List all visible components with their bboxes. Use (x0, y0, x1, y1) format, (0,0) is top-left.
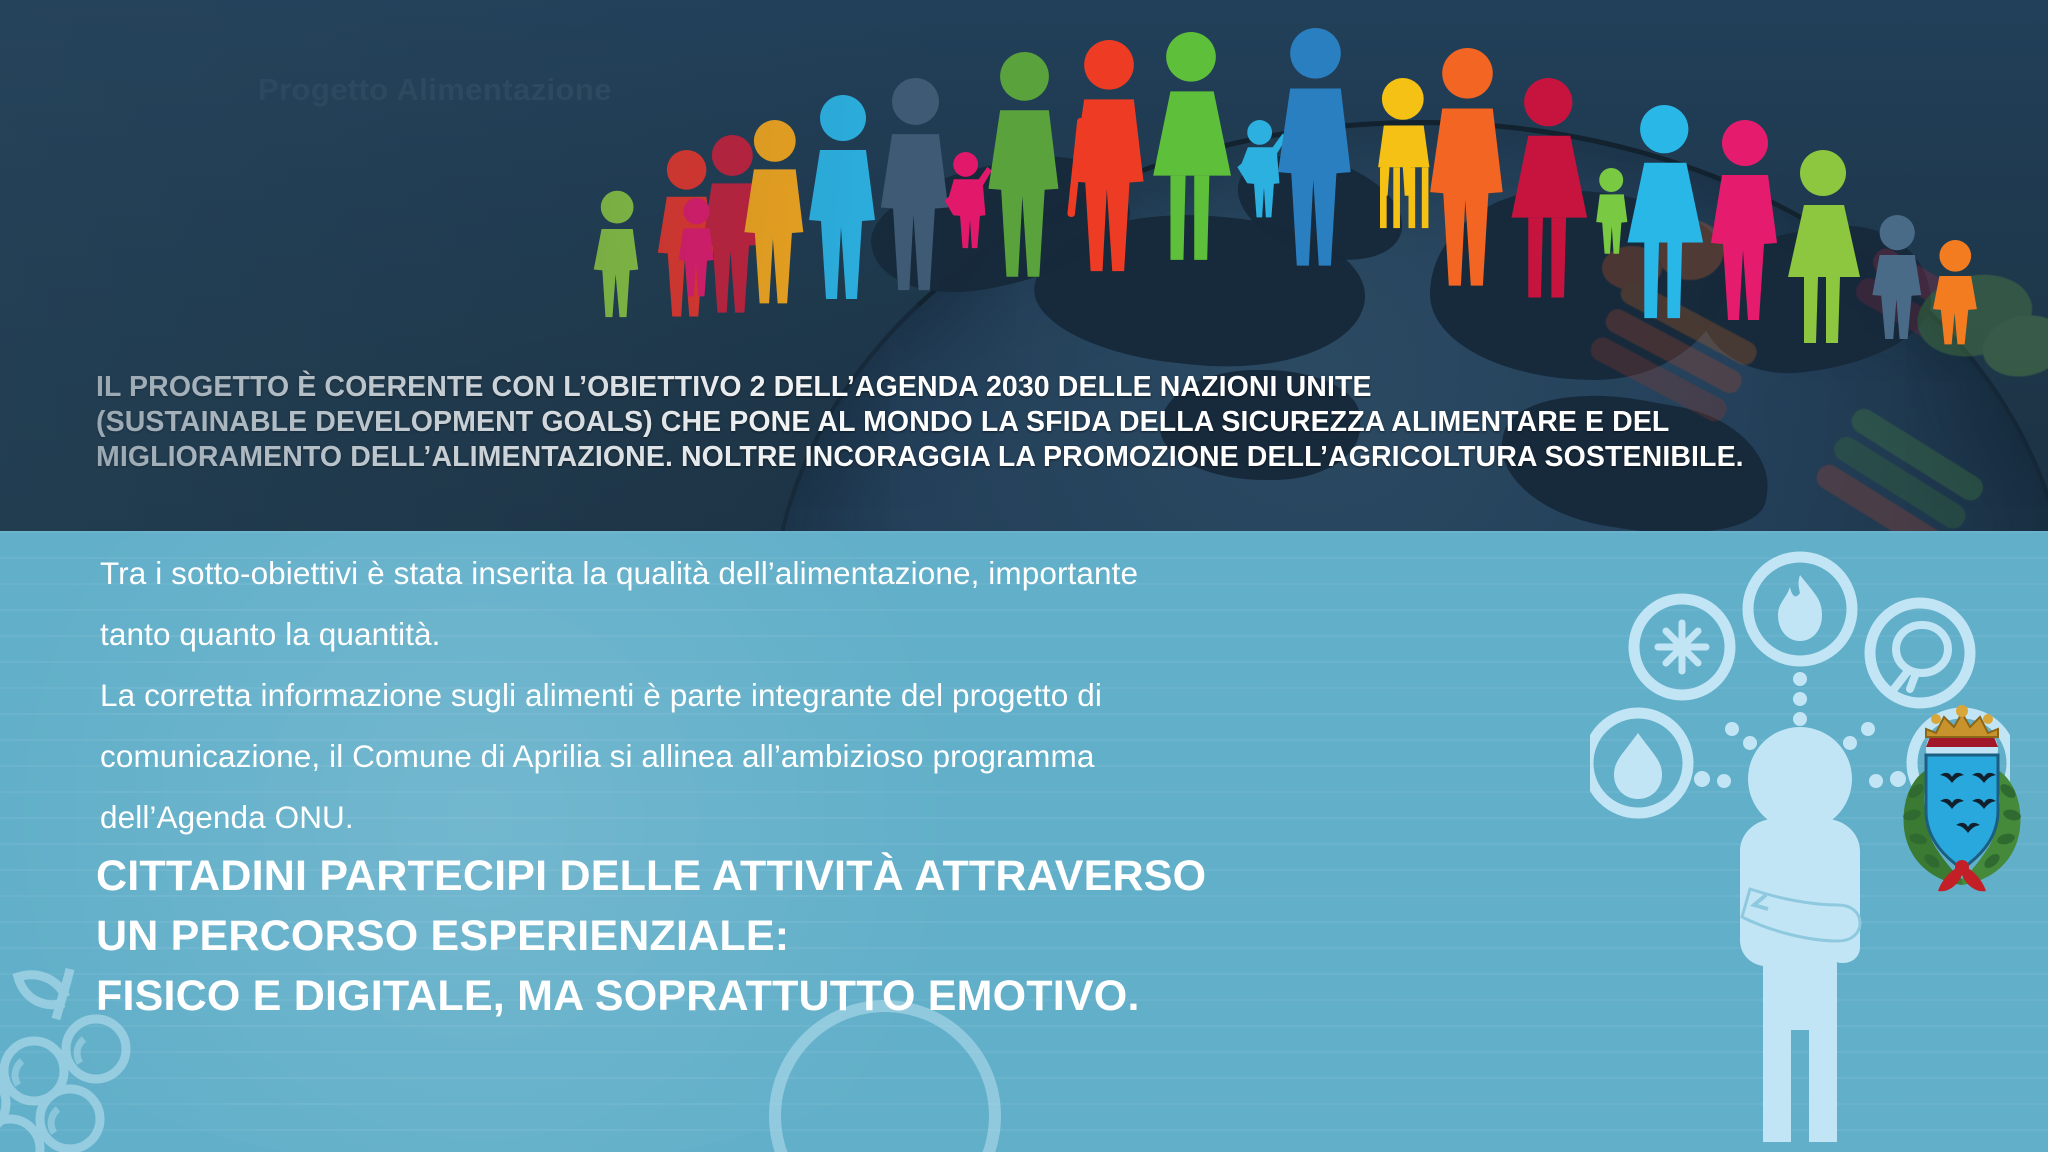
headline-line-3: FISICO E DIGITALE, MA SOPRATTUTTO EMOTIV… (96, 966, 1316, 1026)
continent-shape (1491, 378, 1779, 531)
objective-line-3: MIGLIORAMENTO DELL’ALIMENTAZIONE. NOLTRE… (96, 440, 1986, 475)
person-body (1740, 819, 1860, 1142)
continent-shape (1430, 190, 1730, 380)
tree-icon (1894, 625, 1948, 689)
objective-line-2: (SUSTAINABLE DEVELOPMENT GOALS) CHE PONE… (96, 405, 1986, 440)
body-line-4: comunicazione, il Comune di Aprilia si a… (100, 726, 1220, 787)
faded-food-illustration (1560, 220, 2048, 531)
flame-icon (1778, 575, 1822, 641)
globe-graphic (770, 120, 2048, 531)
continent-shape (1160, 370, 1360, 480)
tree-icon-ring (1870, 603, 1970, 703)
dark-hero-section: Progetto Alimentazione IL PROGETTO È COE… (0, 0, 2048, 531)
ghost-watermark-text: Progetto Alimentazione (258, 70, 678, 109)
continent-shape (1691, 215, 1938, 386)
body-line-3: La corretta informazione sugli alimenti … (100, 665, 1220, 726)
aprilia-coat-of-arms (1878, 699, 2046, 899)
crown (1926, 705, 1998, 747)
continent-shape (1224, 136, 1415, 279)
light-content-section: Tra i sotto-obiettivi è stata inserita l… (0, 531, 2048, 1152)
body-line-1: Tra i sotto-obiettivi è stata inserita l… (100, 543, 1220, 604)
headline-line-1: CITTADINI PARTECIPI DELLE ATTIVITÀ ATTRA… (96, 846, 1316, 906)
globe-outline (770, 120, 2048, 531)
body-line-2: tanto quanto la quantità. (100, 604, 1220, 665)
body-paragraph: Tra i sotto-obiettivi è stata inserita l… (100, 543, 1220, 848)
body-line-5: dell’Agenda ONU. (100, 787, 1220, 848)
sparkle-icon (1658, 623, 1706, 671)
headline-line-2: UN PERCORSO ESPERIENZIALE: (96, 906, 1316, 966)
headline-block: CITTADINI PARTECIPI DELLE ATTIVITÀ ATTRA… (96, 846, 1316, 1026)
person-head (1748, 727, 1852, 831)
objective-paragraph: IL PROGETTO È COERENTE CON L’OBIETTIVO 2… (96, 370, 1986, 475)
people-pictogram-arc (560, 0, 2048, 430)
objective-line-1: IL PROGETTO È COERENTE CON L’OBIETTIVO 2… (96, 370, 1986, 405)
continent-shape (1028, 198, 1372, 382)
presentation-slide: Progetto Alimentazione IL PROGETTO È COE… (0, 0, 2048, 1152)
water-drop-icon (1614, 733, 1662, 799)
continent-shape (860, 139, 1139, 310)
